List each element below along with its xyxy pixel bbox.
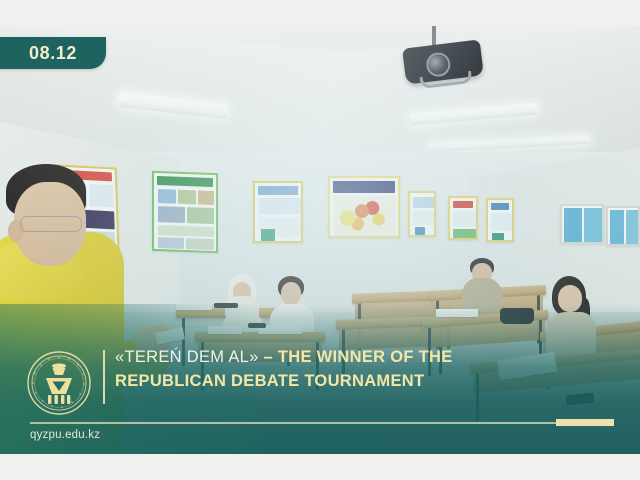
headline-line-1: «TEREŃ DEM AL» – THE WINNER OF THE xyxy=(115,346,630,368)
student-beige-jacket xyxy=(466,258,506,316)
backpack xyxy=(500,308,534,324)
headline-line-2: REPUBLICAN DEBATE TOURNAMENT xyxy=(115,370,630,392)
wall-poster xyxy=(486,198,514,242)
title-banner: «TEREŃ DEM AL» – THE WINNER OF THE REPUB… xyxy=(0,334,640,454)
glasses xyxy=(20,216,82,232)
wall-poster xyxy=(408,191,436,237)
page-band-bottom xyxy=(0,454,640,480)
wall-poster xyxy=(560,204,604,244)
date-badge: 08.12 xyxy=(0,37,106,69)
projector-mount xyxy=(432,26,436,46)
university-emblem-icon xyxy=(26,350,92,416)
headline-quoted-title: «TEREŃ DEM AL» xyxy=(115,348,259,366)
wall-poster xyxy=(448,196,478,240)
banner-divider-rule xyxy=(30,422,612,424)
wall-poster xyxy=(606,206,640,246)
date-badge-label: 08.12 xyxy=(29,43,77,64)
headline: «TEREŃ DEM AL» – THE WINNER OF THE REPUB… xyxy=(115,346,630,392)
notebook xyxy=(248,323,266,328)
paper-sheet xyxy=(176,304,212,310)
screenshot-root: 08.12 xyxy=(0,0,640,480)
paper-sheet xyxy=(208,326,242,334)
title-divider-bar xyxy=(103,350,105,404)
paper-sheet xyxy=(436,309,478,317)
notebook xyxy=(214,303,238,308)
site-url: qyzpu.edu.kz xyxy=(30,429,100,441)
page-band-top xyxy=(0,0,640,26)
headline-line-1-gold: THE WINNER OF THE xyxy=(278,348,453,366)
wall-poster xyxy=(253,181,303,243)
banner-divider-accent xyxy=(556,419,614,426)
wall-poster xyxy=(152,171,218,253)
headline-dash: – xyxy=(259,348,278,366)
wall-poster xyxy=(328,176,400,238)
